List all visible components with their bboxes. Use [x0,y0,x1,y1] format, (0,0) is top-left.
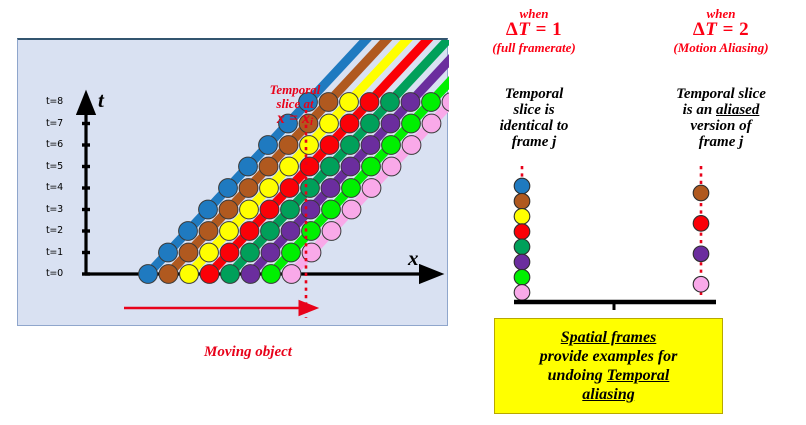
sample-baseline [514,302,716,310]
column-1-value: 1 [552,19,562,40]
temporal-slice-samples [460,160,806,310]
object-dot [341,136,360,155]
sample-dot [514,285,530,301]
t-axis-tick-label: t=8 [46,96,63,107]
object-dot [401,93,420,112]
t-axis-tick-label: t=7 [46,118,63,129]
sample-dot [514,193,530,209]
callout-line1: Spatial frames [561,329,657,346]
underlined-word: aliased [716,102,759,118]
object-dot [221,265,240,284]
object-dot [279,136,298,155]
slice-eq-text: x = x [277,110,310,127]
body-line: version of [690,118,751,134]
callout-box: Spatial frames provide examples for undo… [494,318,723,414]
object-dot [282,243,301,262]
column-2-when: when [642,8,800,19]
object-dot [262,265,281,284]
object-dot [239,157,258,176]
object-dot [402,114,421,133]
object-dot [282,265,301,284]
body-line: slice is [513,102,554,118]
object-dot [301,179,320,198]
t-axis-tick-label: t=0 [46,268,63,279]
callout-text: Spatial frames provide examples for undo… [540,328,678,404]
x-axis-label: x [408,246,419,271]
body-line: is an aliased [683,102,760,118]
object-dot [422,93,441,112]
object-dot [159,265,178,284]
body-line: frame j [512,134,557,150]
column-2-t-symbol: T [705,19,717,40]
object-dot [300,157,319,176]
object-dot [341,157,360,176]
object-dot [179,243,198,262]
object-dot [259,157,278,176]
object-dot [240,200,259,219]
body-line: Temporal [505,86,564,102]
moving-object-label: Moving object [123,344,373,361]
object-dot [241,243,260,262]
slice-eq-subscript: i [310,116,313,128]
column-1-delta-symbol: Δ [506,19,518,40]
object-dot [302,222,321,241]
sample-dot [693,216,709,232]
object-dot [322,222,341,241]
column-1-header: when ΔT = 1 (full framerate) [470,8,598,55]
sample-dot [514,239,530,255]
object-dot [240,222,259,241]
space-time-diagram-panel: t x t=8t=7t=6t=5t=4t=3t=2t=1t=0 Temporal… [17,38,448,326]
object-dot [320,136,339,155]
object-dot [260,200,279,219]
object-dot [159,243,178,262]
column-2-dot-stack [693,185,709,292]
sample-dot [693,246,709,262]
sample-dot [693,276,709,292]
column-1-when: when [470,8,598,19]
t-axis-tick-label: t=1 [46,247,63,258]
slice-caption-equation: x = xi [230,112,360,129]
object-dot [280,157,299,176]
object-dot [281,200,300,219]
object-dot [362,179,381,198]
slice-caption-line2: slice at [276,96,313,111]
column-2-header: when ΔT = 2 (Motion Aliasing) [642,8,800,55]
column-1-t-symbol: T [518,19,530,40]
object-dot [139,265,158,284]
object-dot [321,157,340,176]
sample-dot [514,224,530,240]
object-dot [239,179,258,198]
sample-dot [514,269,530,285]
object-dot [179,222,198,241]
object-dot [219,200,238,219]
t-axis-tick-label: t=4 [46,182,63,193]
object-dot [281,222,300,241]
callout-line2: provide examples for [540,348,678,365]
column-1-dot-stack [514,178,530,300]
object-dot [362,157,381,176]
slice-caption-line1: Temporal [270,82,321,97]
object-dot [261,243,280,262]
object-dot [422,114,441,133]
column-2-body-text: Temporal sliceis an aliasedversion offra… [642,86,800,150]
object-dot [361,136,380,155]
sample-dot [514,178,530,194]
column-2-delta-symbol: Δ [693,19,705,40]
object-dot [220,243,239,262]
object-dot [402,136,421,155]
object-dot [361,114,380,133]
object-dot [261,222,280,241]
object-dot [342,179,361,198]
t-axis-tick-label: t=5 [46,161,63,172]
object-dot [322,200,341,219]
object-dot [382,136,401,155]
object-dot [241,265,260,284]
object-dot [382,157,401,176]
callout-line3b: Temporal [607,367,670,384]
column-1-delta-t: ΔT = 1 [470,19,598,40]
sample-dot [693,185,709,201]
t-axis-tick-label: t=6 [46,139,63,150]
object-dot [321,179,340,198]
object-dot [342,200,361,219]
t-axis-tick-label: t=2 [46,225,63,236]
callout-line3a: undoing [548,367,607,384]
object-dot [219,179,238,198]
object-dot [301,200,320,219]
t-axis-tick-label: t=3 [46,204,63,215]
object-dot [199,222,218,241]
t-axis-label: t [98,88,104,113]
sample-dot [514,254,530,270]
object-dot [381,93,400,112]
column-1-paren: (full framerate) [470,40,598,55]
object-dot [220,222,239,241]
body-line: identical to [500,118,569,134]
object-dot [199,200,218,219]
object-dot [381,114,400,133]
body-line: frame j [699,134,744,150]
object-dot [300,136,319,155]
object-dot [200,243,219,262]
body-line: Temporal slice [676,86,766,102]
column-1-body-text: Temporalslice isidentical toframe j [472,86,596,150]
sample-dot [514,209,530,225]
column-2-value: 2 [739,19,749,40]
object-dot [200,265,219,284]
object-dot [260,179,279,198]
object-dot [360,93,379,112]
object-dot [280,179,299,198]
temporal-slice-caption: Temporal slice at x = xi [230,83,360,129]
column-2-delta-t: ΔT = 2 [642,19,800,40]
object-dot [180,265,199,284]
callout-line4: aliasing [582,386,634,403]
object-dot [259,136,278,155]
column-2-paren: (Motion Aliasing) [642,40,800,55]
